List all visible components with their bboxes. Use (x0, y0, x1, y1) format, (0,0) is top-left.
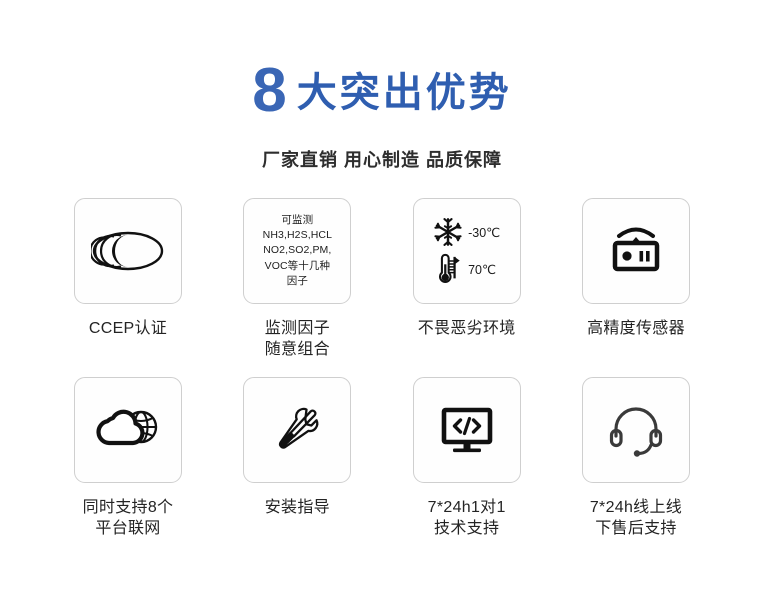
advantage-item-after-sales[interactable]: 7*24h线上线 下售后支持 (554, 377, 718, 539)
page-subtitle: 厂家直销 用心制造 品质保障 (0, 146, 764, 172)
wrench-screwdriver-icon (268, 401, 326, 459)
advantage-label: 监测因子 随意组合 (265, 318, 330, 360)
advantage-label: 高精度传感器 (587, 318, 685, 339)
cloud-globe-icon (92, 404, 164, 456)
advantage-card-after-sales (582, 377, 690, 483)
advantage-item-tech-support[interactable]: 7*24h1对1 技术支持 (385, 377, 549, 539)
cold-temp-value: -30℃ (468, 225, 500, 240)
snowflake-icon (433, 217, 463, 247)
advantage-card-tech-support (413, 377, 521, 483)
advantage-label: 安装指导 (265, 497, 330, 518)
advantage-label: 7*24h1对1 技术支持 (428, 497, 506, 539)
advantage-item-platforms[interactable]: 同时支持8个 平台联网 (46, 377, 210, 539)
monitoring-factors-text: 可监测 NH3,H2S,HCL NO2,SO2,PM, VOC等十几种 因子 (259, 213, 336, 289)
advantage-label: 不畏恶劣环境 (418, 318, 516, 339)
advantages-grid: CCEP认证 可监测 NH3,H2S,HCL NO2,SO2,PM, VOC等十… (46, 198, 718, 539)
cold-temp-row: -30℃ (433, 217, 500, 247)
advantage-item-installation[interactable]: 安装指导 (215, 377, 379, 518)
advantage-card-environment: -30℃ (413, 198, 521, 304)
hot-temp-value: 70℃ (468, 262, 496, 277)
advantage-label: 7*24h线上线 下售后支持 (590, 497, 682, 539)
advantage-item-environment[interactable]: -30℃ (385, 198, 549, 339)
sensor-device-icon (605, 224, 667, 278)
temperature-range-icon: -30℃ (433, 217, 500, 285)
advantage-label: CCEP认证 (89, 318, 167, 339)
advantage-item-factors[interactable]: 可监测 NH3,H2S,HCL NO2,SO2,PM, VOC等十几种 因子 监… (215, 198, 379, 360)
advantage-card-installation (243, 377, 351, 483)
advantage-card-ccep (74, 198, 182, 304)
advantage-label: 同时支持8个 平台联网 (83, 497, 174, 539)
thermometer-icon (433, 253, 463, 285)
headset-icon (606, 403, 666, 457)
advantages-row-2: 同时支持8个 平台联网 (46, 377, 718, 539)
hot-temp-row: 70℃ (433, 253, 500, 285)
advantage-card-factors: 可监测 NH3,H2S,HCL NO2,SO2,PM, VOC等十几种 因子 (243, 198, 351, 304)
ccc-certification-icon (91, 228, 165, 274)
title-number: 8 (252, 60, 286, 122)
page-title: 8 大突出优势 (0, 62, 764, 124)
advantage-item-ccep[interactable]: CCEP认证 (46, 198, 210, 339)
advantages-row-1: CCEP认证 可监测 NH3,H2S,HCL NO2,SO2,PM, VOC等十… (46, 198, 718, 360)
title-text: 大突出优势 (297, 73, 512, 113)
advantage-item-sensor[interactable]: 高精度传感器 (554, 198, 718, 339)
monitor-code-icon (436, 403, 498, 457)
advantage-card-sensor (582, 198, 690, 304)
page-header: 8 大突出优势 厂家直销 用心制造 品质保障 (0, 0, 764, 172)
advantage-card-platforms (74, 377, 182, 483)
